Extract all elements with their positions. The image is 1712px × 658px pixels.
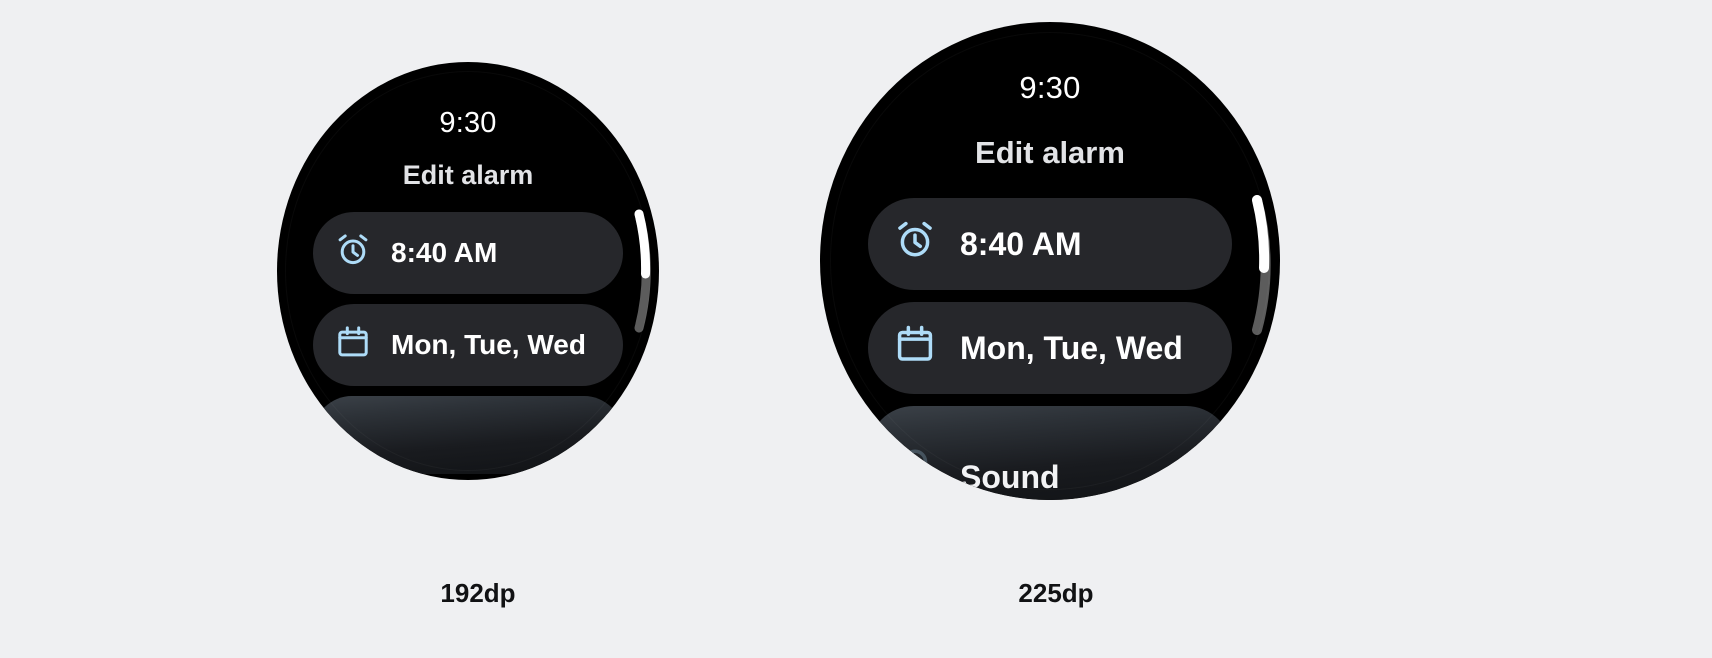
comparison-canvas: 9:30 Edit alarm 8:40 A [0,0,1712,658]
list-item-alarm-days-225dp[interactable]: Mon, Tue, Wed [868,302,1232,394]
watch-device-225dp: 9:30 Edit alarm 8:40 AM [820,22,1320,500]
watch-case-225dp: 9:30 Edit alarm 8:40 AM [820,22,1280,500]
list-item-sound-225dp[interactable]: Sound [868,406,1232,500]
alarm-clock-icon [335,232,371,275]
bell-icon [894,446,936,496]
list-item-alarm-time-225dp[interactable]: 8:40 AM [868,198,1232,290]
alarm-clock-icon [894,219,936,269]
alarm-time-value-225dp: 8:40 AM [960,226,1082,263]
screen-title-225dp: Edit alarm [820,135,1280,171]
calendar-icon [335,324,371,367]
watch-case-192dp: 9:30 Edit alarm 8:40 A [277,62,659,480]
watch-device-192dp: 9:30 Edit alarm 8:40 A [277,62,697,480]
list-item-alarm-time-192dp[interactable]: 8:40 AM [313,212,623,294]
status-time-192dp: 9:30 [277,107,659,140]
size-label-192dp: 192dp [378,578,578,609]
alarm-days-value-192dp: Mon, Tue, Wed [391,329,586,361]
list-item-alarm-days-192dp[interactable]: Mon, Tue, Wed [313,304,623,386]
settings-list-225dp: 8:40 AM Mon, Tue, Wed [820,198,1280,500]
screen-title-192dp: Edit alarm [277,160,659,191]
alarm-time-value-192dp: 8:40 AM [391,237,497,269]
watch-screen-192dp: 9:30 Edit alarm 8:40 A [277,62,659,480]
status-time-225dp: 9:30 [820,70,1280,106]
calendar-icon [894,323,936,373]
watch-screen-225dp: 9:30 Edit alarm 8:40 AM [820,22,1280,500]
size-label-225dp: 225dp [956,578,1156,609]
sound-label-225dp: Sound [960,459,1060,496]
settings-list-192dp: 8:40 AM Mon, Tue, Wed [277,212,659,474]
list-item-sound-192dp[interactable] [313,396,623,474]
alarm-days-value-225dp: Mon, Tue, Wed [960,330,1183,367]
